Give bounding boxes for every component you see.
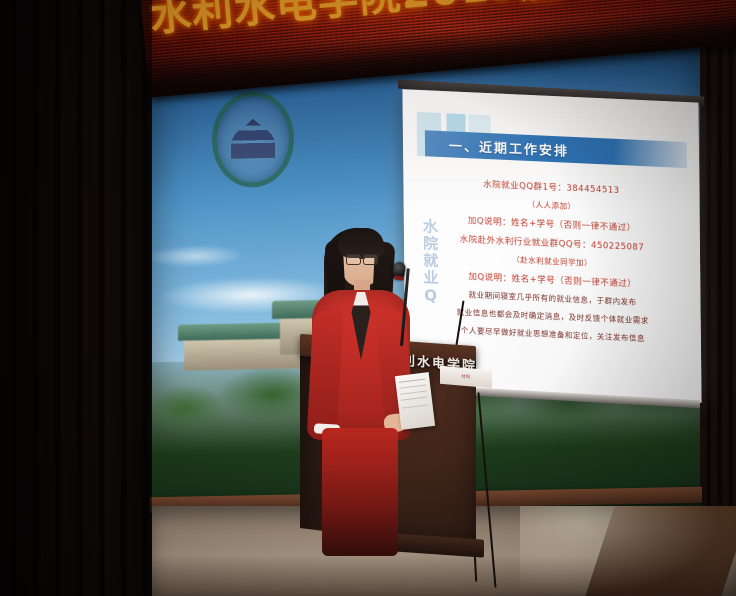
pagoda-icon [231,118,275,159]
speaker-papers [395,372,435,430]
slide-title: 一、近期工作安排 [449,135,569,159]
slide-line: 个人要尽早做好就业思想准备和定位，关注发布信息 [423,323,683,346]
slide-watermark: 水院就业Q [420,218,442,307]
left-acoustic-wall [0,0,152,596]
slide-title-bar: 一、近期工作安排 [425,130,687,168]
speaker-lower-body [322,428,398,556]
slide-body: 水院就业QQ群1号：384454513 （人人添加） 加Q说明：姓名+学号（否则… [403,167,701,354]
floor-light-reflection [520,506,720,596]
auditorium-photo: 珞珈山水 一、近期工作安排 水院就业QQ群1号：384454513 （人人添加）… [0,0,736,596]
glasses-icon [346,254,378,263]
